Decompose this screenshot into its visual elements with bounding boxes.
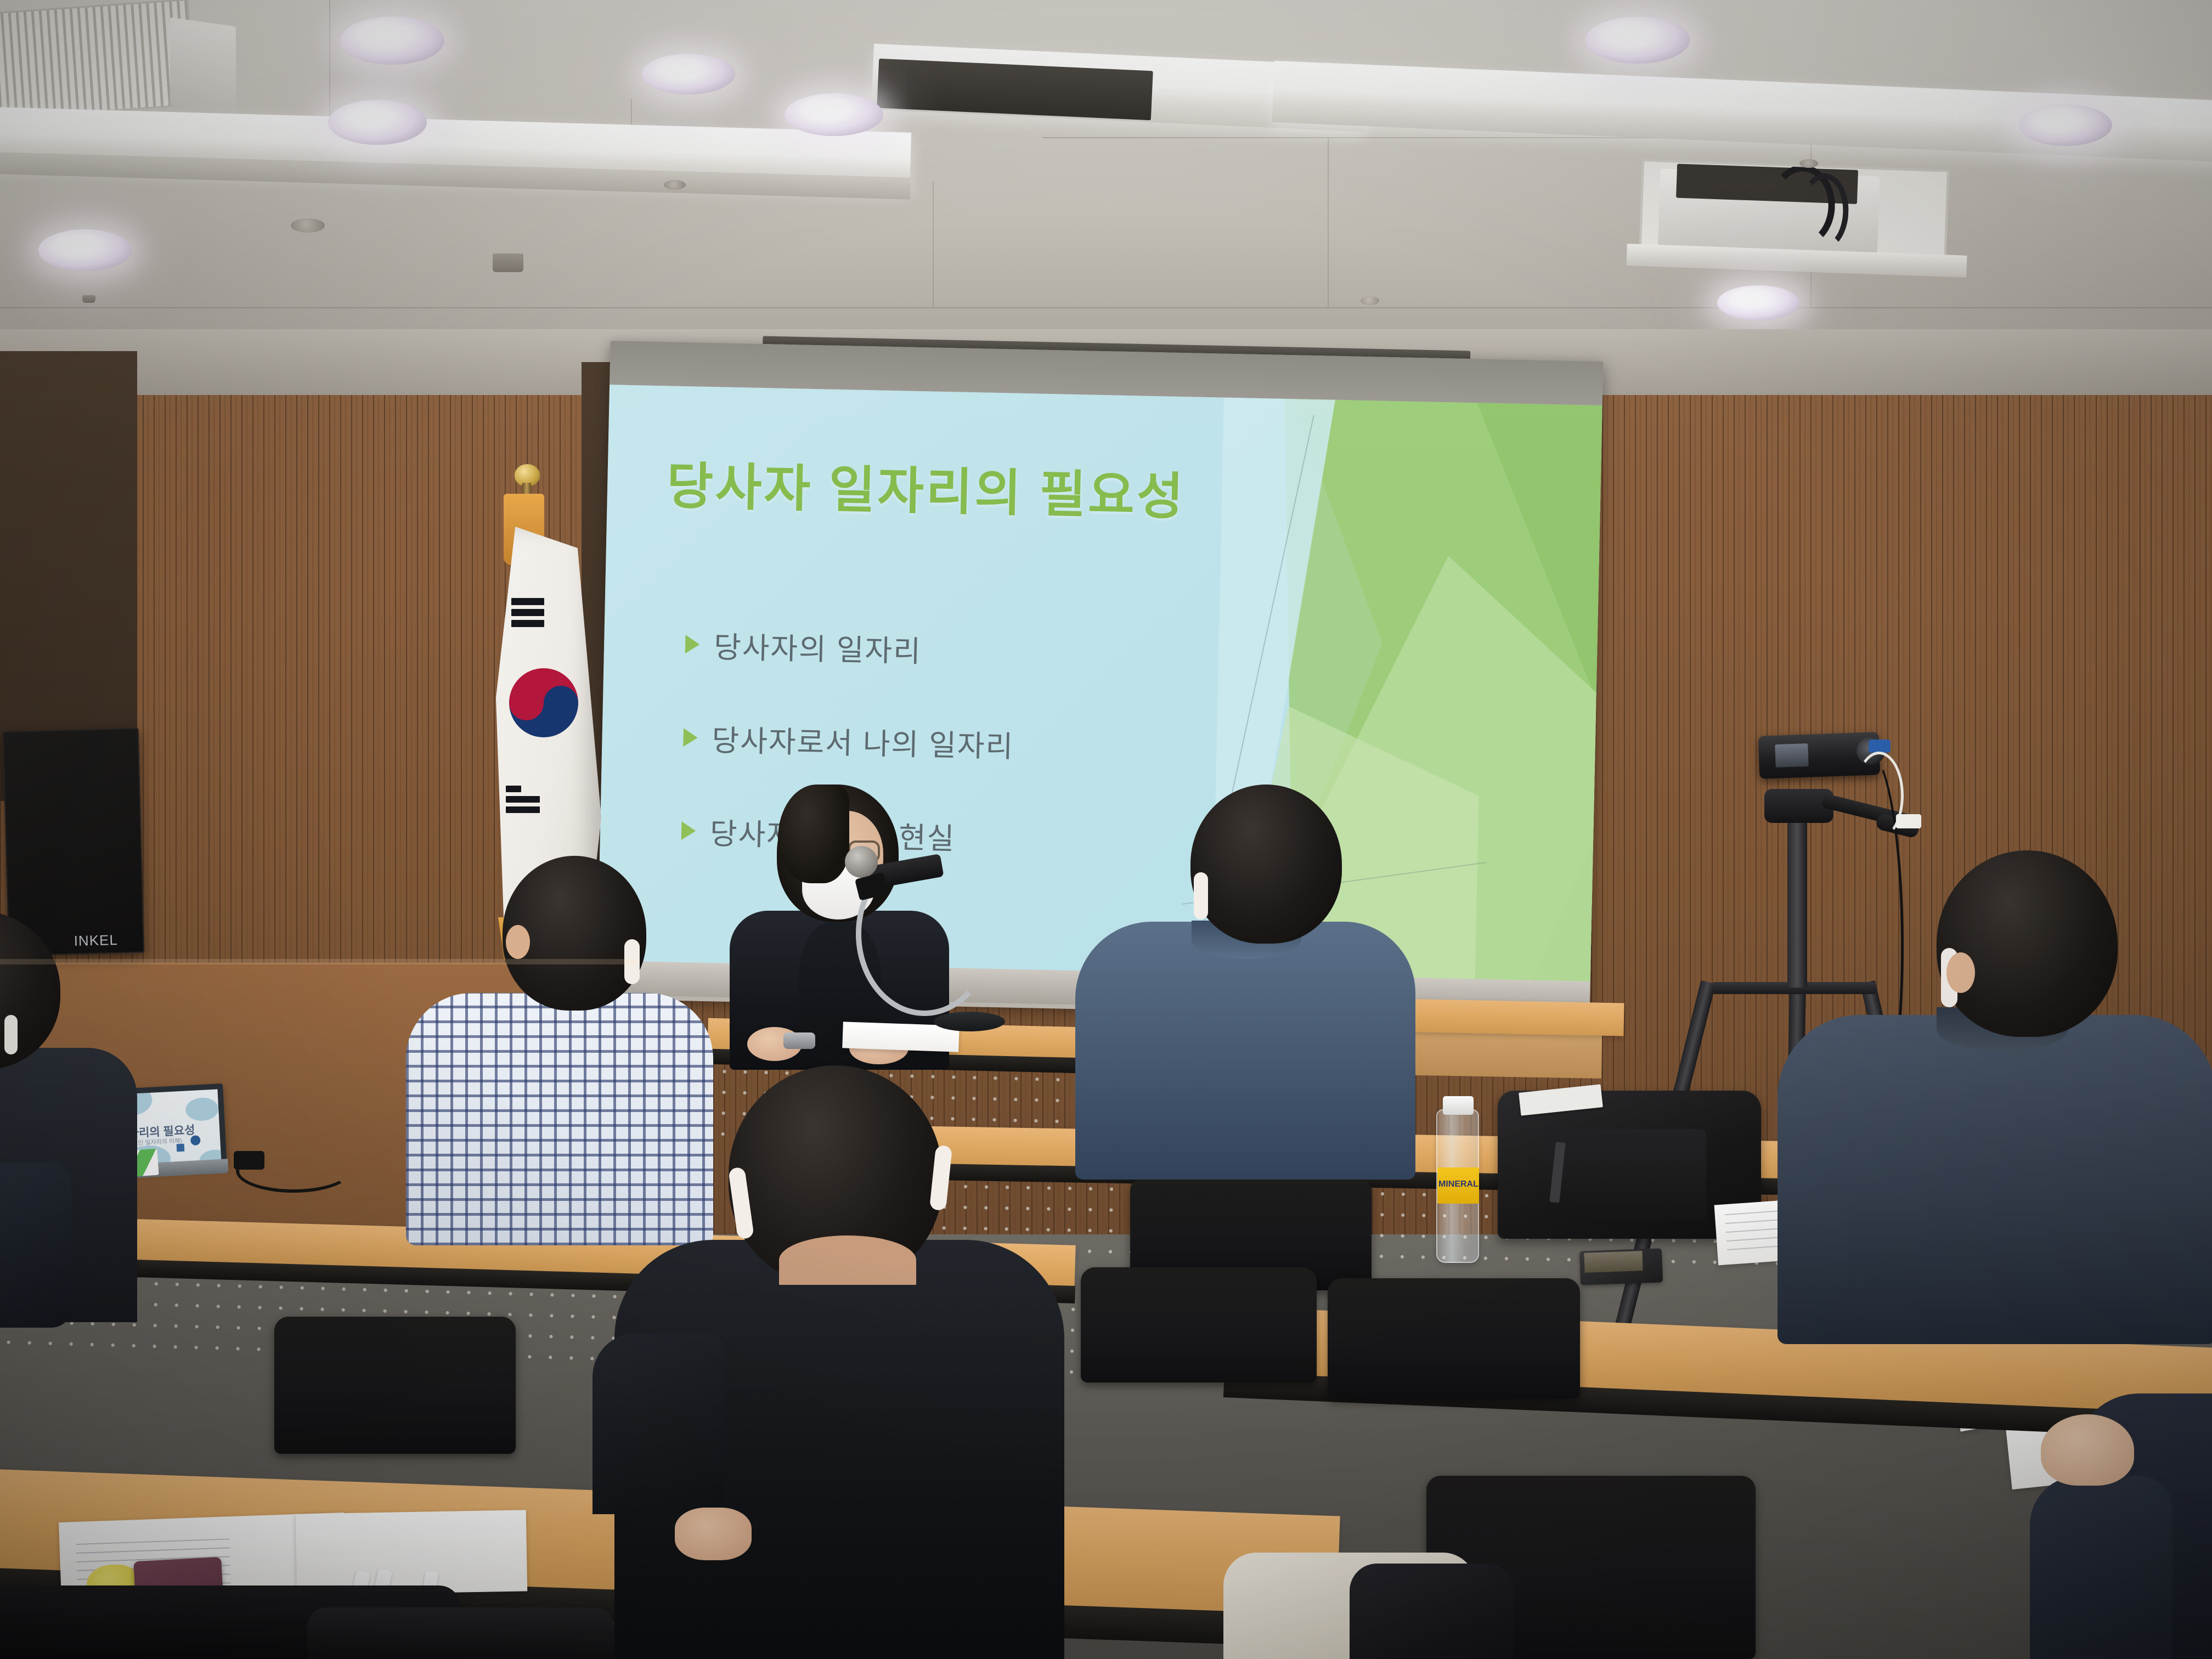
attendee-navy-shirt-head [1937,850,2118,1037]
ac-vent-louver [170,18,236,115]
presenter-clicker[interactable] [783,1032,815,1049]
smoke-detector-1 [291,218,325,233]
wall-strip-highlight [0,959,636,964]
attendee-black-tshirt-sleeve [592,1333,724,1514]
flag-trigram-top-left [511,598,544,631]
taeguk-red-lobe [509,686,544,720]
downlight-3 [38,229,132,271]
flag-taeguk-circle [509,668,578,737]
attendee-check-shirt-ear [506,925,530,959]
bottle-label-text: MINERAL WATER [1438,1180,1479,1189]
slide-bullet-2: 당사자로서 나의 일자리 [683,715,1014,766]
bottle-cap[interactable] [1443,1096,1474,1115]
ceiling-ac-vent [0,0,195,119]
downlight-2 [328,100,427,145]
wallet-strap [1584,1251,1643,1273]
slide-bullet-2-text: 당사자로서 나의 일자리 [712,716,1014,766]
smoke-detector-3 [1799,159,1818,168]
attendee-left-front-mask-strap [4,1015,18,1054]
laptop-cable-plug [234,1151,264,1170]
attendee-navy-shirt-ear [1946,952,1975,993]
attendee-right-front-hand [2041,1414,2134,1486]
downlight-7 [2019,104,2112,146]
attendee-right-front-arm [2030,1476,2172,1659]
smoke-detector-2 [664,180,686,190]
chair-near-center[interactable] [307,1607,614,1659]
microphone-windscreen [845,846,878,878]
downlight-8 [642,54,735,94]
flag-trigram-bottom-left [506,786,540,817]
camcorder-lcd-screen[interactable] [1775,743,1808,768]
downlight-4 [785,93,883,136]
downlight-6 [1717,285,1799,320]
attendee-black-tshirt-hand [675,1508,752,1560]
sprinkler-head-2 [82,295,95,303]
attendee-blue-shirt-mask-strap [1194,872,1208,919]
attendee-left-front-backpack [0,1163,71,1328]
downlight-5 [1585,16,1690,64]
slide-bullet-1-text: 당사자의 일자리 [713,623,922,670]
laptop-slide-blob-2 [185,1097,219,1121]
laptop-slide-deco-circle [190,1135,201,1145]
attendee-left-front [0,905,165,1322]
bullet-triangle-icon [683,728,698,747]
attendee-navy-shirt-torso [1778,1015,2212,1344]
attendee-right-front [2074,1311,2212,1659]
presenter-hair-front [778,785,849,883]
downlight-1 [340,16,444,65]
sprinkler-head-1 [493,253,523,272]
bullet-triangle-icon [685,635,700,654]
attendee-black-tshirt-neck [779,1235,916,1285]
taeguk-blue-lobe [544,686,578,720]
seminar-room-photo: 당사자 일자리의 필요성 당사자의 일자리 당사자로서 나의 일자리 당사자의 … [0,0,2212,1659]
backpack-front-pocket [1542,1129,1706,1220]
laptop-slide-deco-square [177,1144,185,1152]
slide-bullet-1: 당사자의 일자리 [685,622,922,670]
slide-title: 당사자 일자리의 필요성 [666,445,1186,529]
handout-paper-front-right[interactable] [296,1510,528,1595]
camcorder-cable-connector [1896,814,1921,828]
ac-vent-grille [0,1,194,117]
chair-row3-1[interactable] [274,1317,516,1454]
smoke-detector-4 [1361,296,1379,305]
attendee-navy-shirt [1799,850,2212,1344]
chair-row2-2[interactable] [1328,1278,1580,1399]
bag-near-center-shadow [1350,1564,1514,1659]
bullet-triangle-icon [681,821,696,840]
attendee-blue-shirt-head [1190,785,1342,944]
attendee-black-tshirt [582,1075,1130,1659]
bottle-label: MINERAL WATER [1437,1167,1479,1204]
microphone-base [934,1012,1005,1031]
